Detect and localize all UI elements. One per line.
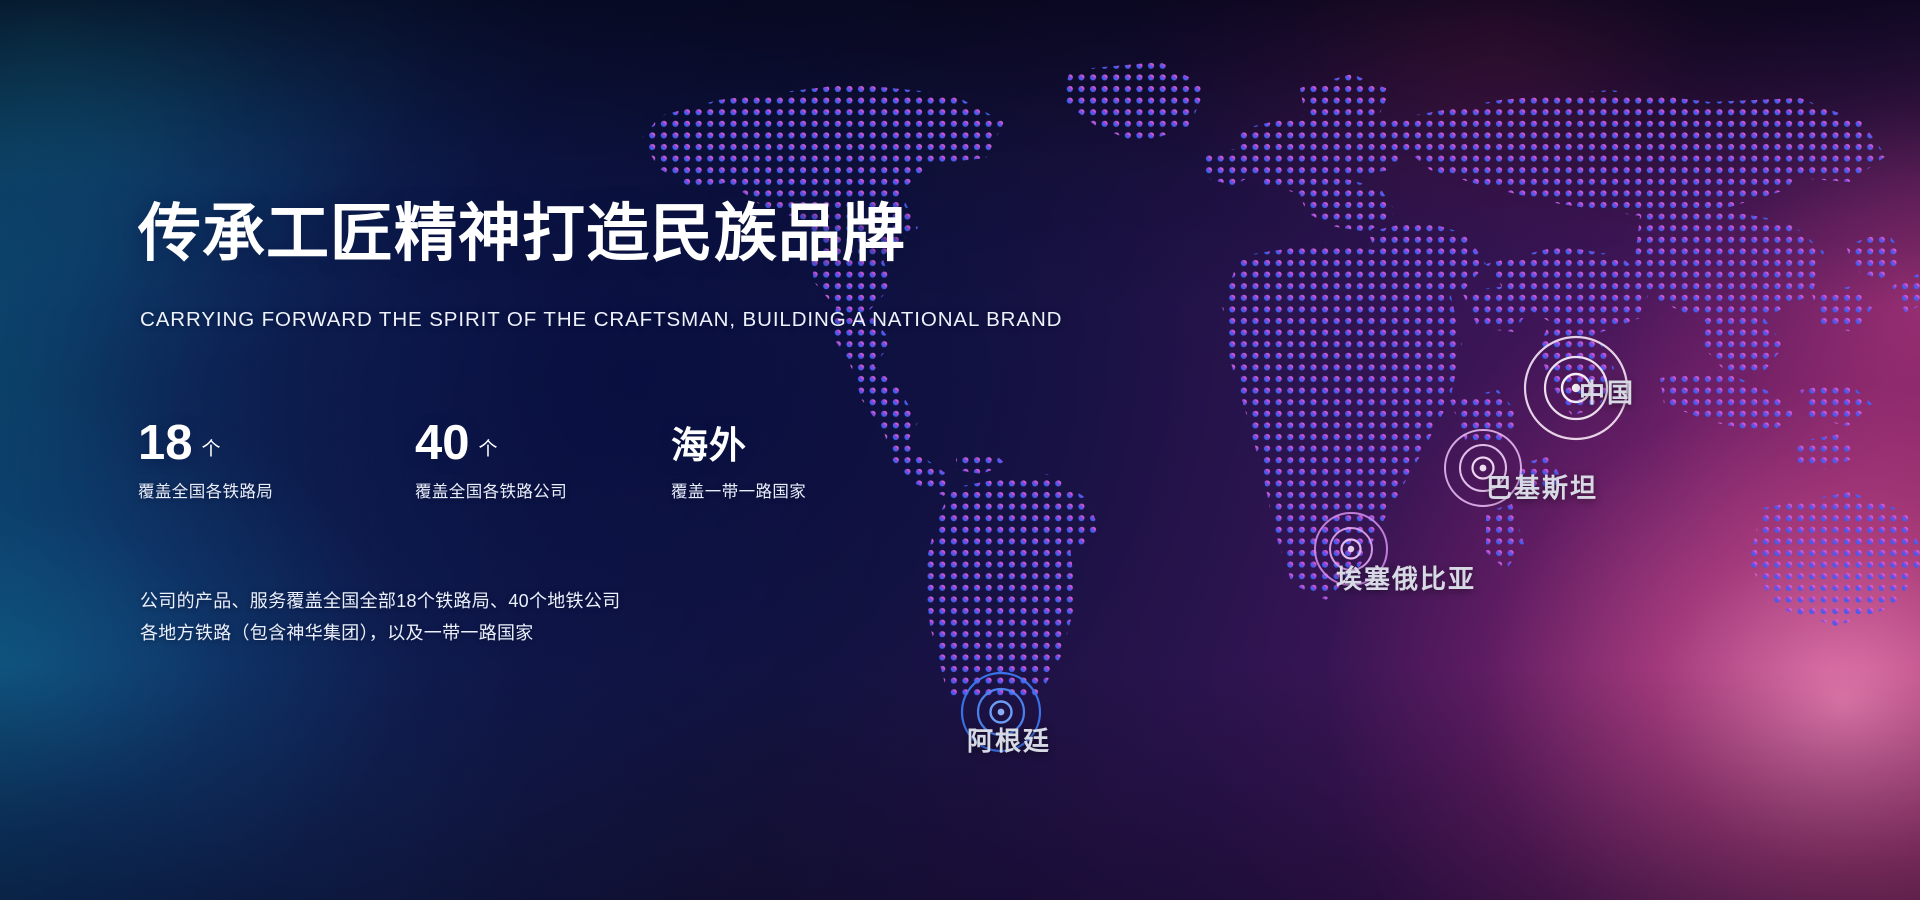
map-marker-label: 中国 [1579, 373, 1635, 410]
stat-label: 覆盖全国各铁路公司 [415, 478, 567, 502]
stat-label: 覆盖一带一路国家 [671, 478, 806, 502]
stat-number: 18 [138, 421, 193, 466]
stat-label: 覆盖全国各铁路局 [138, 478, 273, 502]
stat-unit: 个 [479, 434, 498, 466]
stat-unit: 个 [202, 434, 221, 466]
banner-stage: 传承工匠精神打造民族品牌 CARRYING FORWARD THE SPIRIT… [0, 0, 1920, 900]
content-column: 传承工匠精神打造民族品牌 CARRYING FORWARD THE SPIRIT… [138, 0, 898, 900]
stat-item-overseas: 海外 覆盖一带一路国家 [671, 410, 806, 502]
description-line-1: 公司的产品、服务覆盖全国全部18个铁路局、40个地铁公司 [140, 585, 620, 617]
map-marker-label: 埃塞俄比亚 [1336, 559, 1476, 596]
page-subtitle: CARRYING FORWARD THE SPIRIT OF THE CRAFT… [140, 308, 1062, 332]
map-marker-china[interactable]: 中国 [1521, 333, 1631, 443]
stat-value-row: 海外 [671, 410, 806, 466]
map-marker-label: 巴基斯坦 [1486, 468, 1598, 505]
map-marker-label: 阿根廷 [967, 721, 1051, 758]
map-marker-pakistan[interactable]: 巴基斯坦 [1441, 426, 1525, 510]
description-line-2: 各地方铁路（包含神华集团），以及一带一路国家 [140, 617, 620, 649]
description-paragraph: 公司的产品、服务覆盖全国全部18个铁路局、40个地铁公司 各地方铁路（包含神华集… [140, 585, 620, 649]
stat-item-railway-companies: 40 个 覆盖全国各铁路公司 [415, 410, 567, 502]
stat-number: 海外 [671, 425, 747, 466]
map-marker-ethiopia[interactable]: 埃塞俄比亚 [1311, 509, 1391, 589]
page-title: 传承工匠精神打造民族品牌 [138, 203, 906, 266]
map-marker-argentina[interactable]: 阿根廷 [958, 669, 1044, 755]
stat-item-railway-bureaus: 18 个 覆盖全国各铁路局 [138, 410, 273, 502]
stat-value-row: 40 个 [415, 410, 567, 466]
stat-value-row: 18 个 [138, 410, 273, 466]
stat-number: 40 [415, 421, 470, 466]
stats-group: 18 个 覆盖全国各铁路局 40 个 覆盖全国各铁路公司 海外 覆盖一带一路国家 [138, 410, 858, 515]
